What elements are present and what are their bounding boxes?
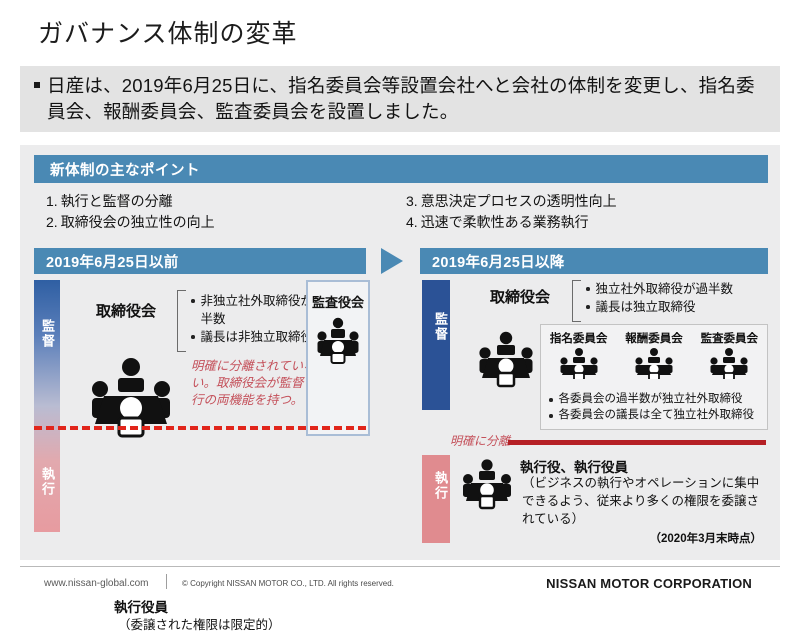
after-execution-bar: 執行 bbox=[422, 455, 450, 543]
key-point-item: 1.執行と監督の分離 bbox=[46, 191, 406, 212]
key-point-text: 執行と監督の分離 bbox=[61, 193, 173, 209]
committee-meeting-icon bbox=[634, 347, 674, 379]
before-executive-label: 執行役員 bbox=[114, 596, 168, 616]
before-panel: 監督 執行 取締役会 非独立社外取締役が過半数 議長は非独立取締役 明確に分離さ… bbox=[34, 278, 366, 546]
before-executive-sub: （委譲された権限は限定的） bbox=[118, 614, 281, 633]
after-supervision-bar: 監督 bbox=[422, 280, 450, 410]
after-executive-sub: （ビジネスの執行やオペレーションに集中できるよう、従来より多くの権限を委譲されて… bbox=[522, 474, 762, 528]
footer-brand: NISSAN MOTOR CORPORATION bbox=[546, 576, 752, 591]
committee-name: 指名委員会 bbox=[543, 330, 615, 346]
bullet-text: 議長は独立取締役 bbox=[596, 298, 696, 316]
committee-meeting-icon bbox=[559, 347, 599, 379]
committee-name: 監査委員会 bbox=[693, 330, 765, 346]
before-board-brace bbox=[177, 290, 186, 352]
as-of-note: （2020年3月末時点） bbox=[650, 530, 762, 546]
committee-item: 指名委員会 bbox=[543, 330, 615, 379]
footer-vertical-divider bbox=[166, 574, 167, 589]
bullet-item: 独立社外取締役が過半数 bbox=[586, 280, 766, 298]
after-board-bullets: 独立社外取締役が過半数 議長は独立取締役 bbox=[586, 280, 766, 316]
bullet-item: 議長は独立取締役 bbox=[586, 298, 766, 316]
after-separation-solid-line bbox=[508, 440, 766, 445]
committee-item: 監査委員会 bbox=[693, 330, 765, 379]
after-phase-label: 2019年6月25日以降 bbox=[432, 251, 565, 272]
key-point-item: 2.取締役会の独立性の向上 bbox=[46, 212, 406, 233]
key-point-text: 取締役会の独立性の向上 bbox=[61, 214, 215, 230]
before-separation-dashed-line bbox=[34, 426, 366, 430]
key-point-text: 迅速で柔軟性ある業務執行 bbox=[421, 214, 589, 230]
key-point-text: 意思決定プロセスの透明性向上 bbox=[421, 193, 617, 209]
after-executive-label: 執行役、執行役員 bbox=[520, 456, 628, 476]
before-phase-label: 2019年6月25日以前 bbox=[46, 251, 179, 272]
after-board-brace bbox=[572, 280, 581, 322]
key-point-number: 1. bbox=[46, 193, 58, 209]
transition-arrow-icon bbox=[381, 248, 403, 274]
key-points-right-column: 3.意思決定プロセスの透明性向上 4.迅速で柔軟性ある業務執行 bbox=[406, 191, 766, 233]
lead-statement-band: 日産は、2019年6月25日に、指名委員会等設置会社へと会社の体制を変更し、指名… bbox=[20, 66, 780, 132]
before-execution-label: 執行 bbox=[34, 454, 60, 510]
committee-bullets: 各委員会の過半数が独立社外取締役 各委員会の議長は全て独立社外取締役 bbox=[549, 391, 763, 423]
before-supervision-label: 監督 bbox=[34, 306, 60, 362]
key-point-number: 3. bbox=[406, 193, 418, 209]
footer-url[interactable]: www.nissan-global.com bbox=[44, 578, 149, 589]
bullet-square-icon bbox=[34, 82, 40, 88]
bullet-dot-icon bbox=[586, 287, 590, 291]
before-audit-board-box: 監査役会 bbox=[306, 280, 370, 436]
lead-statement-text: 日産は、2019年6月25日に、指名委員会等設置会社へと会社の体制を変更し、指名… bbox=[47, 73, 770, 125]
before-phase-header-bar: 2019年6月25日以前 bbox=[34, 248, 366, 274]
bullet-dot-icon bbox=[586, 305, 590, 309]
key-points-header-label: 新体制の主なポイント bbox=[50, 159, 200, 180]
bullet-dot-icon bbox=[191, 299, 195, 303]
bullet-text: 各委員会の議長は全て独立社外取締役 bbox=[559, 407, 755, 423]
slide-root: ガバナンス体制の変革 日産は、2019年6月25日に、指名委員会等設置会社へと会… bbox=[0, 0, 800, 603]
page-title: ガバナンス体制の変革 bbox=[38, 14, 298, 50]
diagram-canvas: 新体制の主なポイント 1.執行と監督の分離 2.取締役会の独立性の向上 3.意思… bbox=[20, 145, 780, 560]
committee-item: 報酬委員会 bbox=[618, 330, 690, 379]
after-separation-note: 明確に分離 bbox=[450, 432, 510, 449]
bullet-text: 各委員会の過半数が独立社外取締役 bbox=[559, 391, 743, 407]
after-board-meeting-icon bbox=[478, 330, 534, 388]
key-points-left-column: 1.執行と監督の分離 2.取締役会の独立性の向上 bbox=[46, 191, 406, 233]
audit-board-meeting-icon bbox=[316, 316, 360, 364]
key-point-item: 4.迅速で柔軟性ある業務執行 bbox=[406, 212, 766, 233]
key-point-item: 3.意思決定プロセスの透明性向上 bbox=[406, 191, 766, 212]
bullet-dot-icon bbox=[191, 335, 195, 339]
committee-list: 指名委員会 bbox=[541, 330, 767, 379]
bullet-text: 独立社外取締役が過半数 bbox=[596, 280, 734, 298]
bullet-dot-icon bbox=[549, 414, 553, 418]
after-panel: 監督 執行 取締役会 独立社外取締役が過半数 議長は独立取締役 bbox=[420, 278, 768, 546]
after-supervision-label: 監督 bbox=[422, 312, 450, 342]
before-audit-board-label: 監査役会 bbox=[308, 292, 368, 311]
footer-divider-line bbox=[20, 566, 780, 567]
after-executive-meeting-icon bbox=[462, 458, 512, 510]
before-board-label: 取締役会 bbox=[96, 300, 156, 321]
after-phase-header-bar: 2019年6月25日以降 bbox=[420, 248, 768, 274]
key-points-header-bar: 新体制の主なポイント bbox=[34, 155, 768, 183]
key-point-number: 4. bbox=[406, 214, 418, 230]
committee-box: 指名委員会 bbox=[540, 324, 768, 430]
after-execution-label: 執行 bbox=[422, 471, 450, 501]
bullet-item: 各委員会の過半数が独立社外取締役 bbox=[549, 391, 763, 407]
bullet-item: 各委員会の議長は全て独立社外取締役 bbox=[549, 407, 763, 423]
bullet-dot-icon bbox=[549, 398, 553, 402]
footer-copyright: © Copyright NISSAN MOTOR CO., LTD. All r… bbox=[182, 579, 394, 588]
committee-name: 報酬委員会 bbox=[618, 330, 690, 346]
after-board-label: 取締役会 bbox=[490, 286, 550, 307]
bullet-text: 議長は非独立取締役 bbox=[201, 328, 314, 346]
committee-meeting-icon bbox=[709, 347, 749, 379]
key-point-number: 2. bbox=[46, 214, 58, 230]
key-points-grid: 1.執行と監督の分離 2.取締役会の独立性の向上 3.意思決定プロセスの透明性向… bbox=[46, 191, 766, 233]
